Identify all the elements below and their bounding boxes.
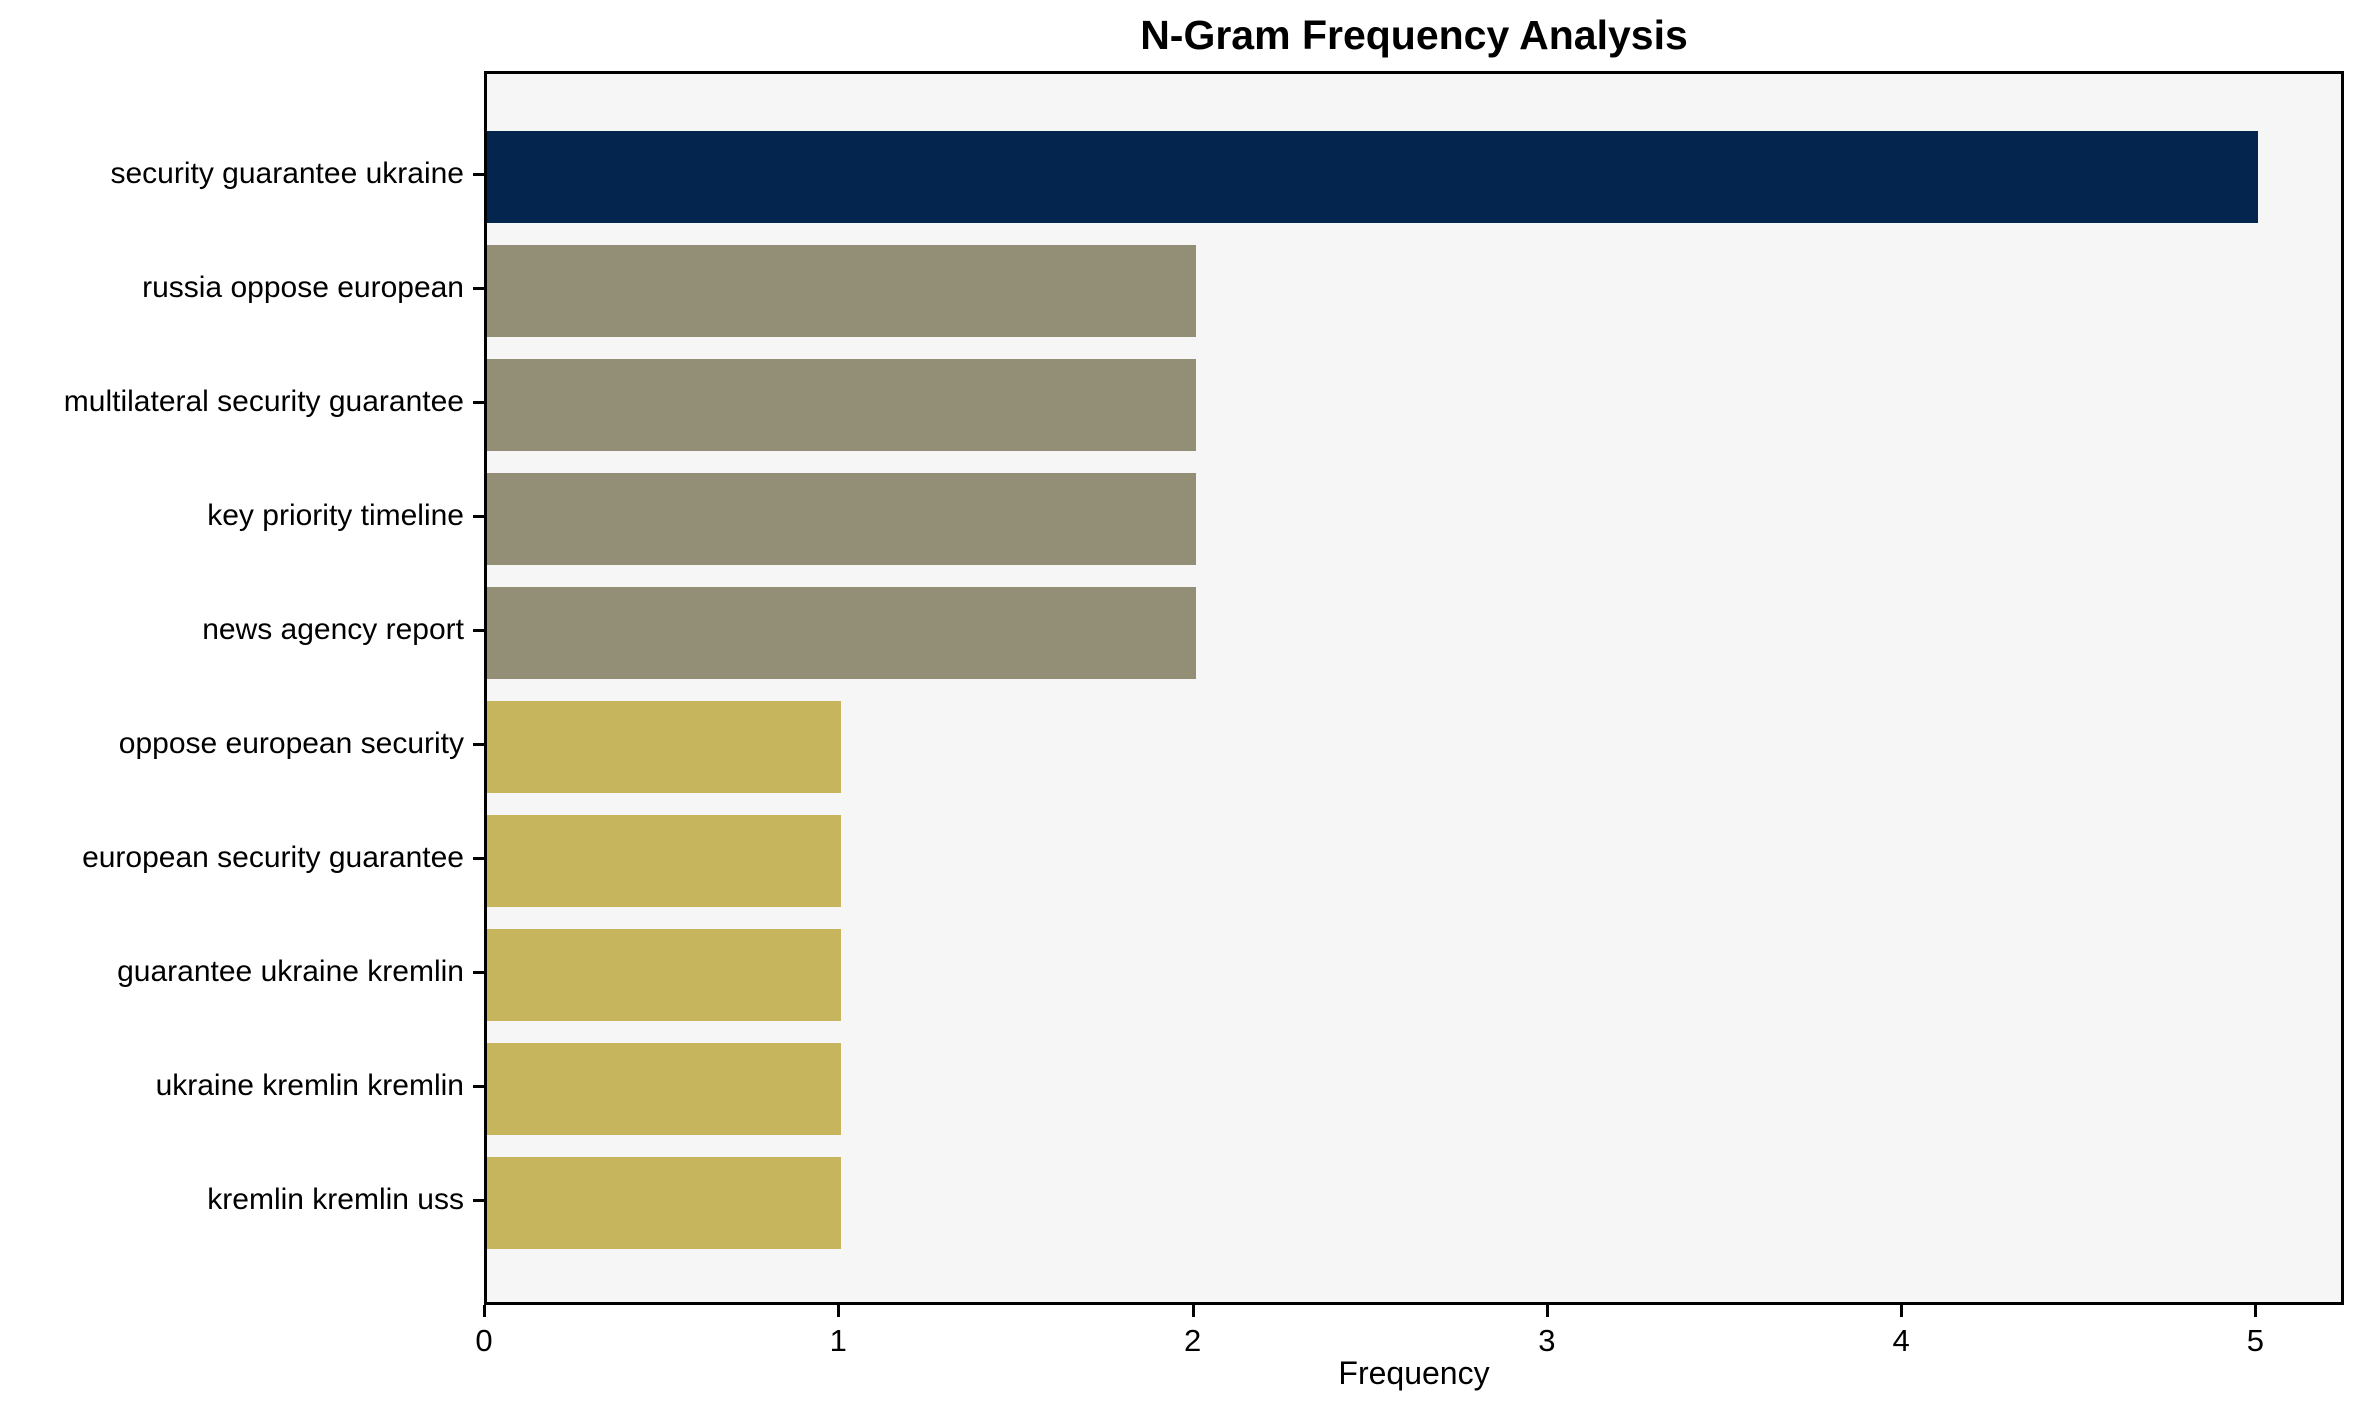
x-axis-tick-mark: [1900, 1305, 1903, 1317]
y-axis-tick-label: guarantee ukraine kremlin: [0, 953, 464, 991]
x-axis-label: Frequency: [484, 1355, 2344, 1392]
x-axis-tick-label: 1: [778, 1323, 898, 1359]
y-axis-tick-label: key priority timeline: [0, 497, 464, 535]
bar-row: [487, 587, 2347, 679]
bar: [487, 815, 841, 907]
bar-row: [487, 245, 2347, 337]
bar-row: [487, 1043, 2347, 1135]
bar: [487, 473, 1196, 565]
y-axis-tick-label: ukraine kremlin kremlin: [0, 1067, 464, 1105]
x-axis-tick-label: 3: [1487, 1323, 1607, 1359]
x-axis-tick-mark: [2254, 1305, 2257, 1317]
y-axis-tick-label: kremlin kremlin uss: [0, 1181, 464, 1219]
y-axis-tick-label: multilateral security guarantee: [0, 383, 464, 421]
y-axis-tick-mark: [473, 173, 484, 176]
bar: [487, 587, 1196, 679]
y-axis-tick-label: european security guarantee: [0, 839, 464, 877]
bar-row: [487, 701, 2347, 793]
bar: [487, 929, 841, 1021]
y-axis-tick-mark: [473, 401, 484, 404]
y-axis-tick-mark: [473, 857, 484, 860]
page-title: N-Gram Frequency Analysis: [484, 6, 2344, 64]
y-axis-tick-label: russia oppose european: [0, 269, 464, 307]
x-axis-tick-label: 2: [1133, 1323, 1253, 1359]
bar-row: [487, 1157, 2347, 1249]
x-axis-tick-mark: [1192, 1305, 1195, 1317]
bar: [487, 1157, 841, 1249]
y-axis-tick-label: security guarantee ukraine: [0, 155, 464, 193]
plot-area: [484, 71, 2344, 1305]
chart-figure: N-Gram Frequency Analysis security guara…: [0, 0, 2364, 1414]
bar: [487, 245, 1196, 337]
y-axis-tick-mark: [473, 629, 484, 632]
y-axis-tick-mark: [473, 1199, 484, 1202]
bar: [487, 131, 2258, 223]
y-axis-tick-mark: [473, 287, 484, 290]
bar-row: [487, 359, 2347, 451]
y-axis-tick-mark: [473, 515, 484, 518]
x-axis-tick-label: 5: [2195, 1323, 2315, 1359]
bar: [487, 359, 1196, 451]
y-axis-tick-mark: [473, 1085, 484, 1088]
bars-container: [487, 74, 2341, 1302]
x-axis-tick-label: 4: [1841, 1323, 1961, 1359]
bar-row: [487, 815, 2347, 907]
y-axis-tick-label: news agency report: [0, 611, 464, 649]
y-axis-tick-mark: [473, 743, 484, 746]
bar: [487, 701, 841, 793]
x-axis-tick-mark: [837, 1305, 840, 1317]
x-axis-tick-mark: [483, 1305, 486, 1317]
y-axis-tick-label: oppose european security: [0, 725, 464, 763]
x-axis-tick-mark: [1546, 1305, 1549, 1317]
y-axis-tick-mark: [473, 971, 484, 974]
bar: [487, 1043, 841, 1135]
bar-row: [487, 131, 2347, 223]
x-axis-tick-label: 0: [424, 1323, 544, 1359]
bar-row: [487, 929, 2347, 1021]
bar-row: [487, 473, 2347, 565]
